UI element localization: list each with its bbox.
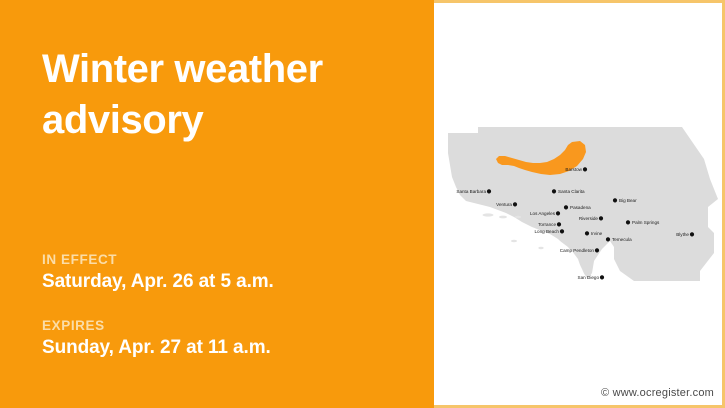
map-island-5 xyxy=(538,247,543,249)
city-label: Los Angeles xyxy=(530,211,556,216)
city-dot xyxy=(583,167,587,171)
map-island-2 xyxy=(499,216,507,219)
city-label: Camp Pendleton xyxy=(560,248,595,253)
map-island-4 xyxy=(511,240,517,242)
city-dot xyxy=(595,248,599,252)
city-label: Santa Clarita xyxy=(558,189,585,194)
city-dot xyxy=(556,211,560,215)
map-island-1 xyxy=(483,213,494,216)
city-dot xyxy=(552,189,556,193)
in-effect-label: IN EFFECT xyxy=(42,252,402,267)
city-dot xyxy=(606,237,610,241)
in-effect-block: IN EFFECT Saturday, Apr. 26 at 5 a.m. xyxy=(42,252,402,293)
city-label: Palm Springs xyxy=(632,220,660,225)
alert-text-panel: Winter weather advisory IN EFFECT Saturd… xyxy=(0,0,434,408)
city-dot xyxy=(626,220,630,224)
city-dot xyxy=(513,202,517,206)
city-dot xyxy=(564,205,568,209)
city-label: Pasadena xyxy=(570,205,591,210)
watermark-credit: © www.ocregister.com xyxy=(601,387,714,399)
city-dot xyxy=(690,232,694,236)
map-container: Santa Barbara Ventura Santa Clarita Bars… xyxy=(434,3,722,405)
city-dot xyxy=(487,189,491,193)
city-dot xyxy=(613,198,617,202)
weather-alert-card: Winter weather advisory IN EFFECT Saturd… xyxy=(0,0,725,408)
city-label: Long Beach xyxy=(534,229,559,234)
city-label: Ventura xyxy=(496,202,512,207)
city-label: Santa Barbara xyxy=(456,189,486,194)
expires-value: Sunday, Apr. 27 at 11 a.m. xyxy=(42,337,402,359)
southern-california-map: Santa Barbara Ventura Santa Clarita Bars… xyxy=(442,121,719,291)
city-dot xyxy=(557,222,561,226)
map-island-3 xyxy=(515,216,521,219)
city-dot xyxy=(600,275,604,279)
city-label: Blythe xyxy=(676,232,689,237)
city-dot xyxy=(585,231,589,235)
city-dot xyxy=(599,216,603,220)
city-label: Big Bear xyxy=(619,198,637,203)
city-label: Torrance xyxy=(538,222,556,227)
in-effect-value: Saturday, Apr. 26 at 5 a.m. xyxy=(42,271,402,293)
city-label: Barstow xyxy=(565,167,582,172)
city-label: San Diego xyxy=(578,275,600,280)
expires-block: EXPIRES Sunday, Apr. 27 at 11 a.m. xyxy=(42,318,402,359)
city-dot xyxy=(560,229,564,233)
city-label: Temecula xyxy=(612,237,632,242)
city-label: Riverside xyxy=(579,216,599,221)
map-panel: Santa Barbara Ventura Santa Clarita Bars… xyxy=(434,0,725,408)
page-title: Winter weather advisory xyxy=(42,44,392,146)
expires-label: EXPIRES xyxy=(42,318,402,333)
city-label: Irvine xyxy=(591,231,603,236)
